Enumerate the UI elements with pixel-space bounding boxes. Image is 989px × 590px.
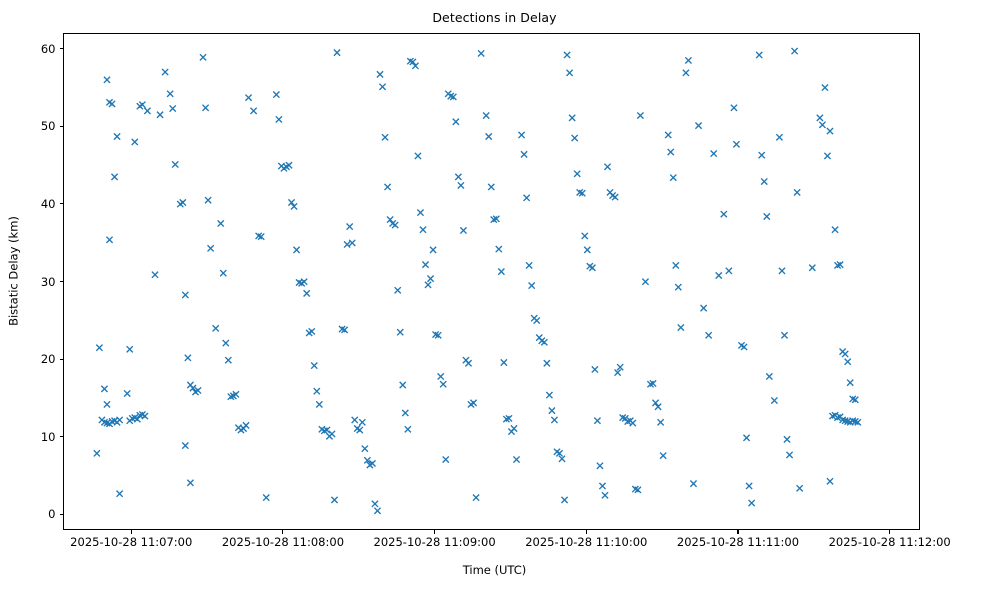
scatter-marker xyxy=(660,453,666,459)
x-tick-label: 2025-10-28 11:10:00 xyxy=(525,536,647,549)
scatter-marker xyxy=(513,456,519,462)
scatter-marker xyxy=(781,332,787,338)
scatter-points xyxy=(64,34,920,530)
scatter-marker xyxy=(511,425,517,431)
scatter-marker xyxy=(501,359,507,365)
scatter-marker xyxy=(743,435,749,441)
scatter-marker xyxy=(521,151,527,157)
scatter-marker xyxy=(440,381,446,387)
scatter-marker xyxy=(142,413,148,419)
scatter-marker xyxy=(349,240,355,246)
scatter-marker xyxy=(731,105,737,111)
scatter-marker xyxy=(756,52,762,58)
scatter-marker xyxy=(483,112,489,118)
scatter-marker xyxy=(172,161,178,167)
scatter-marker xyxy=(551,417,557,423)
scatter-marker xyxy=(561,497,567,503)
scatter-marker xyxy=(470,400,476,406)
scatter-marker xyxy=(690,481,696,487)
y-axis-label: Bistatic Delay (km) xyxy=(7,23,21,520)
x-tick-label: 2025-10-28 11:12:00 xyxy=(829,536,951,549)
scatter-marker xyxy=(771,397,777,403)
scatter-marker xyxy=(329,431,335,437)
scatter-marker xyxy=(458,182,464,188)
scatter-marker xyxy=(822,84,828,90)
scatter-marker xyxy=(518,132,524,138)
scatter-marker xyxy=(400,382,406,388)
scatter-marker xyxy=(372,501,378,507)
scatter-marker xyxy=(847,380,853,386)
scatter-marker xyxy=(443,456,449,462)
scatter-marker xyxy=(417,210,423,216)
x-tick-label: 2025-10-28 11:11:00 xyxy=(677,536,799,549)
scatter-marker xyxy=(220,270,226,276)
scatter-marker xyxy=(205,197,211,203)
scatter-marker xyxy=(797,485,803,491)
scatter-marker xyxy=(127,346,133,352)
scatter-marker xyxy=(602,492,608,498)
chart-title: Detections in Delay xyxy=(0,10,989,25)
scatter-marker xyxy=(716,272,722,278)
scatter-marker xyxy=(683,70,689,76)
scatter-marker xyxy=(776,134,782,140)
scatter-marker xyxy=(293,247,299,253)
scatter-marker xyxy=(529,283,535,289)
scatter-marker xyxy=(96,345,102,351)
x-tick-label: 2025-10-28 11:08:00 xyxy=(222,536,344,549)
y-tick-label: 30 xyxy=(10,276,56,288)
scatter-marker xyxy=(524,195,530,201)
scatter-marker xyxy=(827,128,833,134)
scatter-marker xyxy=(347,223,353,229)
scatter-marker xyxy=(374,508,380,514)
scatter-marker xyxy=(599,483,605,489)
x-tick-mark xyxy=(737,530,738,534)
scatter-marker xyxy=(453,119,459,125)
scatter-marker xyxy=(592,366,598,372)
y-tick-label: 40 xyxy=(10,198,56,210)
x-tick-mark xyxy=(586,530,587,534)
scatter-marker xyxy=(685,57,691,63)
scatter-marker xyxy=(104,77,110,83)
scatter-marker xyxy=(786,452,792,458)
scatter-marker xyxy=(144,108,150,114)
scatter-marker xyxy=(415,153,421,159)
scatter-marker xyxy=(733,141,739,147)
scatter-marker xyxy=(749,500,755,506)
scatter-marker xyxy=(668,149,674,155)
scatter-marker xyxy=(422,262,428,268)
scatter-marker xyxy=(402,410,408,416)
scatter-marker xyxy=(139,102,145,108)
scatter-marker xyxy=(455,174,461,180)
scatter-marker xyxy=(711,150,717,156)
scatter-marker xyxy=(791,48,797,54)
scatter-marker xyxy=(157,112,163,118)
scatter-marker xyxy=(111,174,117,180)
scatter-marker xyxy=(584,247,590,253)
scatter-marker xyxy=(314,388,320,394)
scatter-marker xyxy=(779,268,785,274)
scatter-marker xyxy=(420,227,426,233)
scatter-marker xyxy=(167,91,173,97)
x-axis-label: Time (UTC) xyxy=(0,563,989,577)
scatter-marker xyxy=(377,71,383,77)
scatter-marker xyxy=(117,491,123,497)
scatter-marker xyxy=(344,241,350,247)
scatter-marker xyxy=(642,279,648,285)
scatter-marker xyxy=(706,332,712,338)
scatter-marker xyxy=(223,340,229,346)
scatter-marker xyxy=(764,213,770,219)
scatter-marker xyxy=(117,417,123,423)
scatter-marker xyxy=(721,211,727,217)
scatter-marker xyxy=(304,290,310,296)
scatter-marker xyxy=(824,153,830,159)
scatter-marker xyxy=(331,497,337,503)
scatter-marker xyxy=(496,246,502,252)
scatter-marker xyxy=(301,279,307,285)
scatter-marker xyxy=(597,463,603,469)
scatter-marker xyxy=(213,325,219,331)
scatter-marker xyxy=(124,390,130,396)
scatter-marker xyxy=(251,108,257,114)
chart-figure: Detections in Delay Bistatic Delay (km) … xyxy=(0,0,989,590)
scatter-marker xyxy=(569,115,575,121)
scatter-marker xyxy=(208,245,214,251)
x-tick-mark xyxy=(889,530,890,534)
y-tick-label: 0 xyxy=(10,508,56,520)
scatter-marker xyxy=(187,480,193,486)
plot-area xyxy=(63,33,920,530)
scatter-marker xyxy=(427,276,433,282)
scatter-marker xyxy=(630,420,636,426)
scatter-marker xyxy=(473,495,479,501)
x-tick-label: 2025-10-28 11:07:00 xyxy=(70,536,192,549)
scatter-marker xyxy=(200,54,206,60)
scatter-marker xyxy=(541,339,547,345)
scatter-marker xyxy=(352,417,358,423)
scatter-marker xyxy=(549,408,555,414)
scatter-marker xyxy=(673,262,679,268)
scatter-marker xyxy=(152,272,158,278)
scatter-marker xyxy=(202,105,208,111)
scatter-marker xyxy=(564,52,570,58)
x-tick-mark xyxy=(131,530,132,534)
scatter-marker xyxy=(182,442,188,448)
scatter-marker xyxy=(273,91,279,97)
scatter-marker xyxy=(574,171,580,177)
scatter-marker xyxy=(379,84,385,90)
scatter-marker xyxy=(114,133,120,139)
scatter-marker xyxy=(665,132,671,138)
scatter-marker xyxy=(170,105,176,111)
scatter-marker xyxy=(761,178,767,184)
scatter-marker xyxy=(637,112,643,118)
scatter-marker xyxy=(546,392,552,398)
scatter-marker xyxy=(276,116,282,122)
scatter-marker xyxy=(488,184,494,190)
scatter-marker xyxy=(311,362,317,368)
x-tick-mark xyxy=(282,530,283,534)
scatter-marker xyxy=(162,69,168,75)
x-tick-mark xyxy=(434,530,435,534)
scatter-marker xyxy=(572,135,578,141)
scatter-marker xyxy=(104,401,110,407)
scatter-marker xyxy=(362,446,368,452)
scatter-marker xyxy=(94,450,100,456)
scatter-marker xyxy=(544,360,550,366)
scatter-marker xyxy=(675,284,681,290)
scatter-marker xyxy=(465,360,471,366)
scatter-marker xyxy=(842,351,848,357)
scatter-marker xyxy=(218,220,224,226)
scatter-marker xyxy=(384,184,390,190)
scatter-marker xyxy=(392,222,398,228)
scatter-marker xyxy=(741,344,747,350)
scatter-marker xyxy=(809,265,815,271)
scatter-marker xyxy=(784,436,790,442)
scatter-marker xyxy=(670,175,676,181)
scatter-marker xyxy=(382,134,388,140)
scatter-marker xyxy=(658,419,664,425)
scatter-marker xyxy=(817,115,823,121)
scatter-marker xyxy=(185,355,191,361)
scatter-marker xyxy=(316,401,322,407)
scatter-marker xyxy=(430,247,436,253)
scatter-marker xyxy=(604,164,610,170)
scatter-marker xyxy=(245,95,251,101)
scatter-marker xyxy=(109,101,115,107)
scatter-marker xyxy=(678,324,684,330)
scatter-marker xyxy=(589,265,595,271)
scatter-marker xyxy=(478,50,484,56)
scatter-marker xyxy=(845,359,851,365)
scatter-marker xyxy=(526,262,532,268)
scatter-marker xyxy=(132,139,138,145)
x-tick-label: 2025-10-28 11:09:00 xyxy=(374,536,496,549)
scatter-marker xyxy=(700,305,706,311)
scatter-marker xyxy=(534,317,540,323)
scatter-marker xyxy=(594,418,600,424)
scatter-marker xyxy=(460,227,466,233)
scatter-marker xyxy=(486,133,492,139)
scatter-marker xyxy=(582,233,588,239)
scatter-marker xyxy=(759,152,765,158)
scatter-marker xyxy=(794,189,800,195)
scatter-marker xyxy=(180,199,186,205)
scatter-marker xyxy=(225,357,231,363)
scatter-marker xyxy=(101,386,107,392)
scatter-marker xyxy=(309,328,315,334)
y-tick-label: 20 xyxy=(10,353,56,365)
scatter-marker xyxy=(334,50,340,56)
scatter-marker xyxy=(438,373,444,379)
scatter-marker xyxy=(766,373,772,379)
y-tick-label: 60 xyxy=(10,43,56,55)
scatter-marker xyxy=(498,269,504,275)
y-tick-label: 10 xyxy=(10,431,56,443)
scatter-marker xyxy=(243,422,249,428)
scatter-marker xyxy=(726,268,732,274)
scatter-marker xyxy=(567,70,573,76)
scatter-marker xyxy=(819,122,825,128)
scatter-marker xyxy=(106,237,112,243)
scatter-marker xyxy=(359,419,365,425)
scatter-marker xyxy=(395,287,401,293)
y-tick-label: 50 xyxy=(10,120,56,132)
scatter-marker xyxy=(746,483,752,489)
scatter-marker xyxy=(397,329,403,335)
scatter-marker xyxy=(405,426,411,432)
scatter-marker xyxy=(695,123,701,129)
scatter-marker xyxy=(832,227,838,233)
scatter-marker xyxy=(827,478,833,484)
scatter-marker xyxy=(263,495,269,501)
scatter-marker xyxy=(425,282,431,288)
scatter-marker xyxy=(182,292,188,298)
scatter-marker xyxy=(357,427,363,433)
scatter-marker xyxy=(612,194,618,200)
